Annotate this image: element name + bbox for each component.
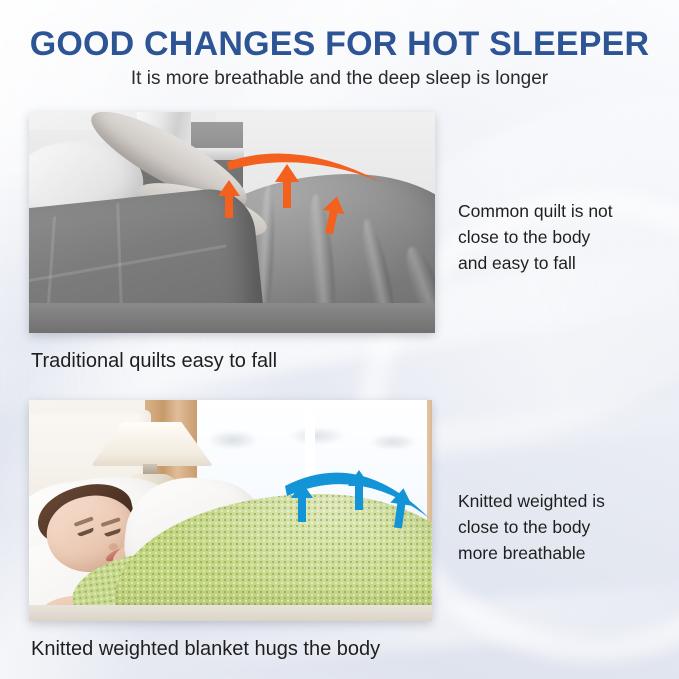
- infographic-page: GOOD CHANGES FOR HOT SLEEPER It is more …: [0, 0, 679, 679]
- photo-panel-traditional-quilt: [29, 112, 435, 333]
- closed-eye: [77, 528, 94, 538]
- scene-traditional-quilt: [29, 112, 435, 333]
- photo-panel-knitted-blanket: [29, 400, 432, 621]
- closed-eye: [104, 528, 121, 537]
- eyebrow: [74, 516, 94, 527]
- page-subtitle: It is more breathable and the deep sleep…: [0, 68, 679, 90]
- eyebrow: [101, 517, 121, 527]
- side-caption-knitted-blanket: Knitted weighted is close to the body mo…: [458, 488, 673, 566]
- bed-base: [29, 605, 432, 621]
- under-caption-traditional-quilt: Traditional quilts easy to fall: [31, 350, 277, 373]
- bed-base: [29, 303, 435, 333]
- curtain-right: [427, 400, 432, 540]
- scene-knitted-blanket: [29, 400, 432, 621]
- page-title: GOOD CHANGES FOR HOT SLEEPER: [0, 25, 679, 64]
- quilt-seam: [29, 244, 227, 283]
- side-caption-traditional-quilt: Common quilt is not close to the body an…: [458, 198, 673, 276]
- under-caption-knitted-blanket: Knitted weighted blanket hugs the body: [31, 638, 380, 661]
